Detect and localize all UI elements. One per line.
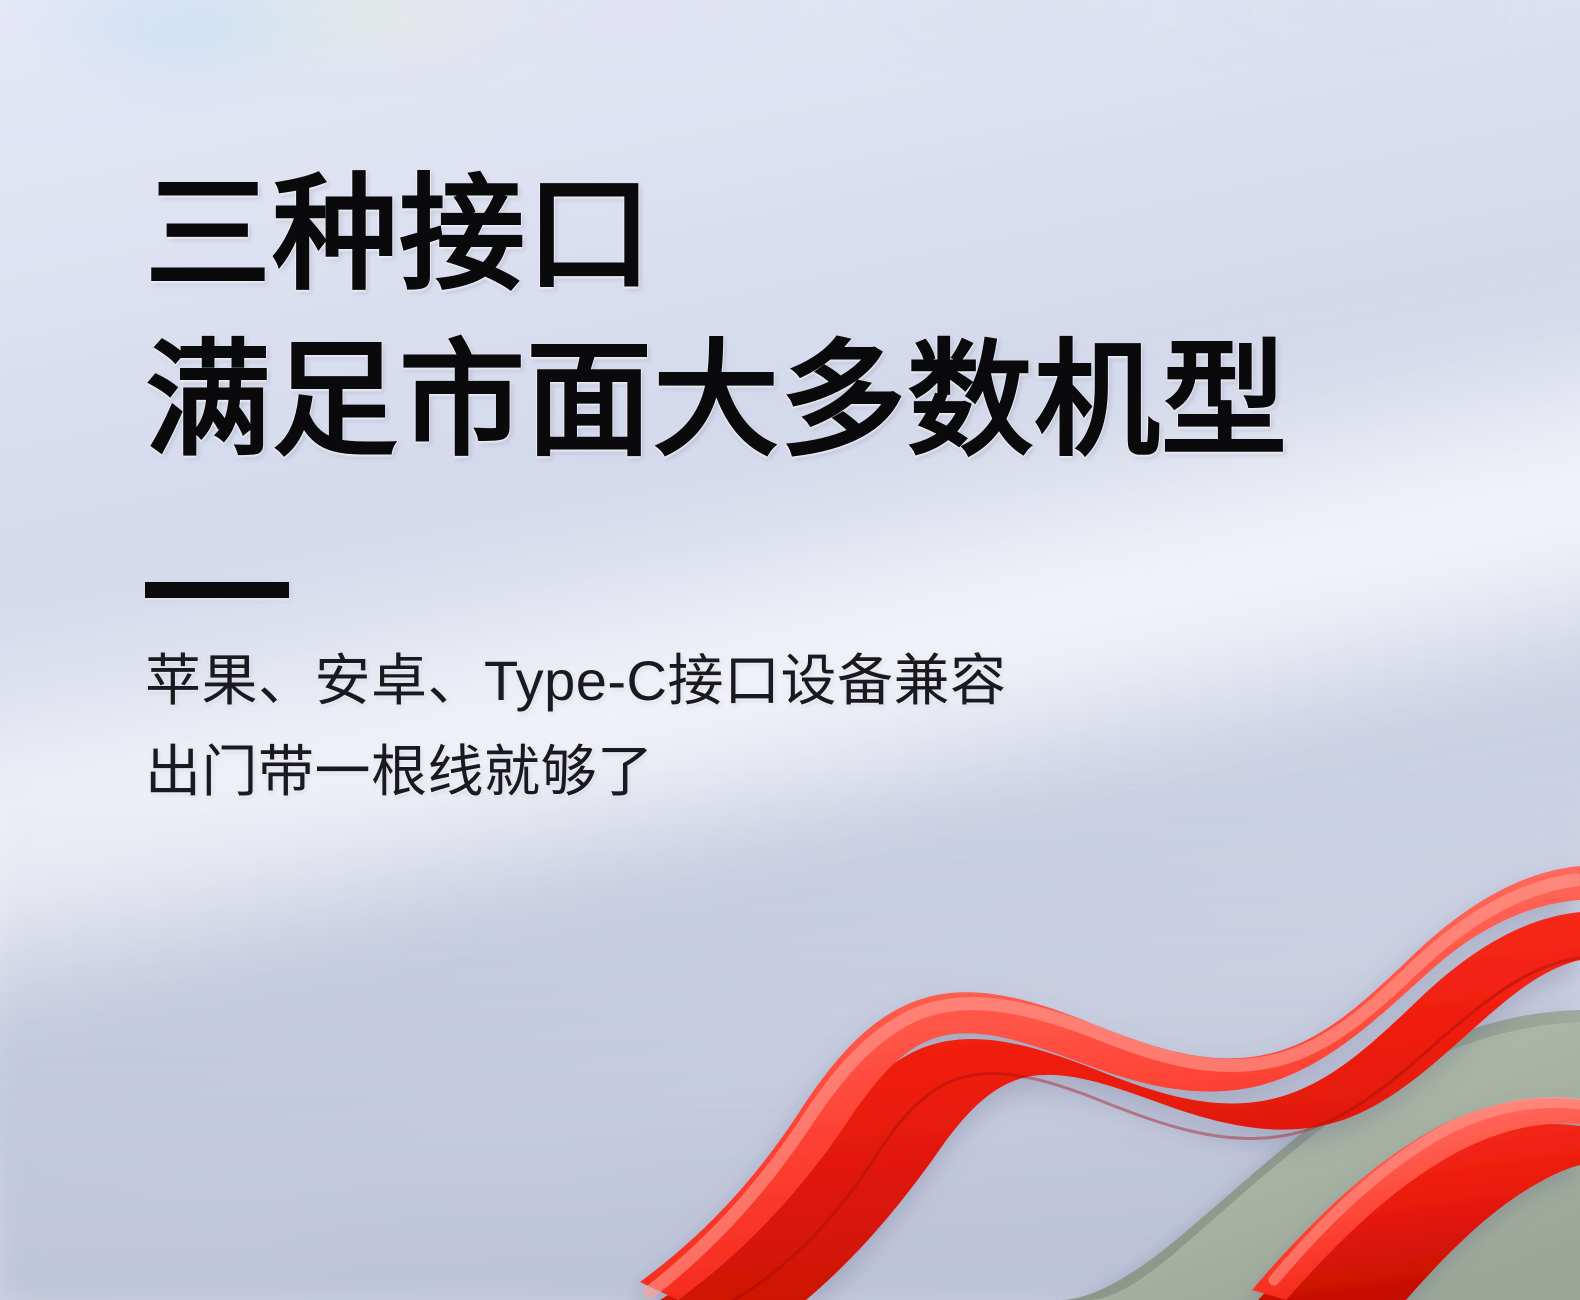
headline-line-1: 三种接口 [145, 0, 1405, 298]
headline-line-2: 满足市面大多数机型 [145, 298, 1405, 464]
subtitle-line-2: 出门带一根线就够了 [145, 727, 1405, 818]
subtitle: 苹果、安卓、Type-C接口设备兼容 出门带一根线就够了 [145, 598, 1405, 817]
text-content: 三种接口 满足市面大多数机型 苹果、安卓、Type-C接口设备兼容 出门带一根线… [145, 0, 1405, 817]
subtitle-line-1: 苹果、安卓、Type-C接口设备兼容 [145, 636, 1405, 727]
divider-rule [145, 582, 289, 598]
page-title: 三种接口 满足市面大多数机型 [145, 0, 1405, 464]
poster-root: 三种接口 满足市面大多数机型 苹果、安卓、Type-C接口设备兼容 出门带一根线… [0, 0, 1580, 1300]
